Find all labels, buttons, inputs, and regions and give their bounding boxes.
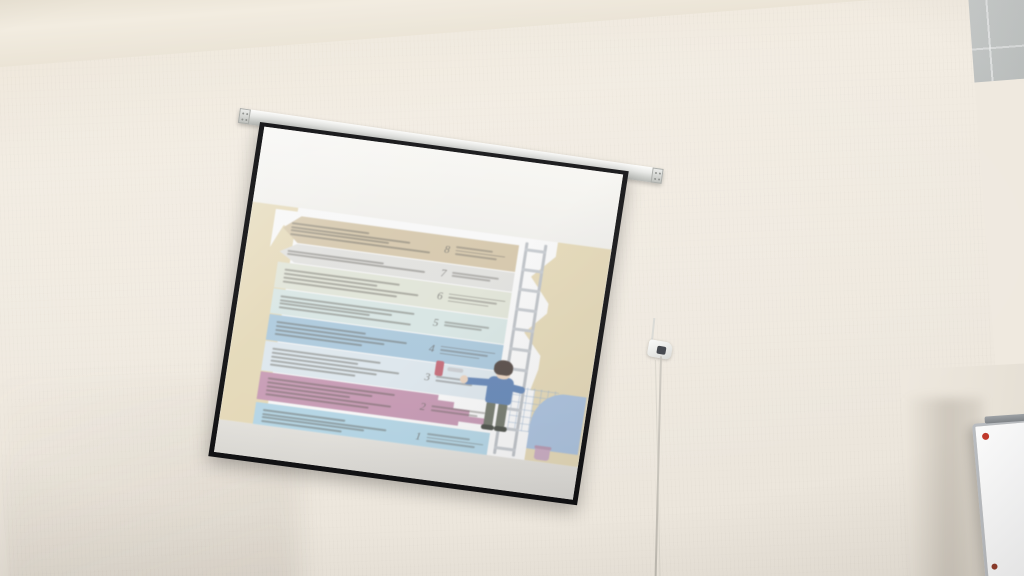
ladder-band-number: 7	[434, 266, 453, 280]
projection-screen-surface: 87654321	[214, 127, 623, 500]
whiteboard-magnet[interactable]	[982, 433, 990, 441]
camera-lens-icon	[656, 346, 666, 355]
ladder-band-number: 5	[427, 315, 446, 329]
boy-shoe-left	[481, 424, 495, 431]
ladder-band-number: 2	[413, 400, 432, 414]
whiteboard-magnet-secondary[interactable]	[991, 563, 998, 570]
boy-shoe-right	[493, 426, 507, 433]
boy-leg-left	[483, 400, 496, 427]
wall-corner-shadow	[905, 398, 983, 576]
boy-hair	[493, 359, 514, 376]
boy-torso	[485, 375, 515, 405]
roller-cap-left	[238, 108, 251, 124]
ladder-band-number: 1	[409, 429, 428, 443]
classroom-scene: 87654321	[0, 0, 1024, 576]
boy-painting-illustration	[466, 357, 539, 438]
paint-bucket-illustration	[534, 447, 551, 461]
projection-screen-frame[interactable]: 87654321	[208, 122, 628, 505]
ladder-band-number: 6	[431, 289, 450, 303]
ladder-band-number: 8	[438, 242, 457, 256]
roller-cap-right	[651, 167, 664, 183]
boy-leg-right	[495, 402, 508, 429]
ladder-band-number: 4	[422, 342, 441, 356]
